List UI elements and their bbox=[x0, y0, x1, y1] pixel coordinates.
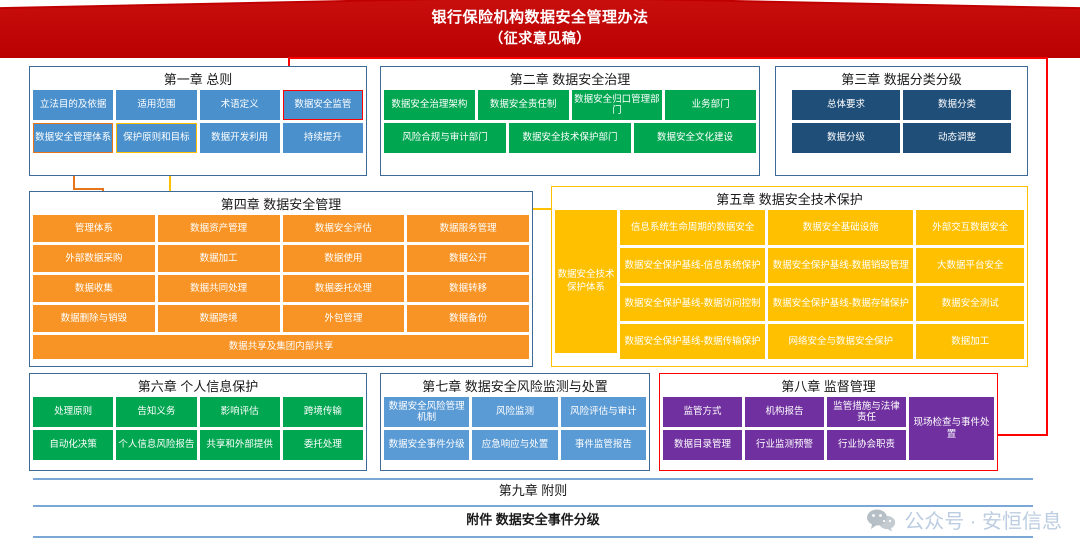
chapter-title: 第二章 数据安全治理 bbox=[384, 70, 756, 90]
node-ch1-5[interactable]: 保护原则和目标 bbox=[116, 123, 196, 153]
node-ch4-11[interactable]: 数据转移 bbox=[407, 275, 529, 302]
node-ch5-0[interactable]: 信息系统生命周期的数据安全 bbox=[620, 210, 765, 245]
diagram-page: 银行保险机构数据安全管理办法 （征求意见稿） 第一章 总则 立法目的及依据 适用… bbox=[0, 0, 1080, 544]
node-ch7-0[interactable]: 数据安全风险管理机制 bbox=[384, 397, 469, 427]
appendix-row: 附件 数据安全事件分级 bbox=[33, 508, 1033, 532]
node-ch6-5[interactable]: 个人信息风险报告 bbox=[116, 430, 196, 460]
node-ch4-12[interactable]: 数据删除与销毁 bbox=[33, 305, 155, 332]
banner-title-line1: 银行保险机构数据安全管理办法 bbox=[0, 8, 1080, 28]
node-ch8-4[interactable]: 行业监测预警 bbox=[745, 430, 824, 460]
node-ch7-1[interactable]: 风险监测 bbox=[472, 397, 557, 427]
banner-title-line2: （征求意见稿） bbox=[0, 28, 1080, 48]
divider-middle bbox=[33, 505, 1033, 507]
node-ch8-0[interactable]: 监管方式 bbox=[663, 397, 742, 427]
node-ch3-0[interactable]: 总体要求 bbox=[792, 90, 900, 120]
node-ch6-4[interactable]: 自动化决策 bbox=[33, 430, 113, 460]
chapter-panel-ch6: 第六章 个人信息保护 处理原则 告知义务 影响评估 跨境传输 自动化决策 个人信… bbox=[29, 373, 367, 471]
node-ch4-6[interactable]: 数据使用 bbox=[283, 245, 405, 272]
node-ch5-1[interactable]: 数据安全基础设施 bbox=[768, 210, 913, 245]
node-ch5-9[interactable]: 数据安全保护基线-数据传输保护 bbox=[620, 324, 765, 359]
node-ch2-5[interactable]: 数据安全技术保护部门 bbox=[509, 123, 631, 153]
chapter9-row: 第九章 附则 bbox=[33, 479, 1033, 503]
node-ch3-1[interactable]: 数据分类 bbox=[903, 90, 1011, 120]
node-ch2-6[interactable]: 数据安全文化建设 bbox=[634, 123, 756, 153]
chapter-panel-ch2: 第二章 数据安全治理 数据安全治理架构 数据安全责任制 数据安全归口管理部门 业… bbox=[380, 66, 760, 176]
chapter-title: 第七章 数据安全风险监测与处置 bbox=[384, 377, 646, 397]
node-ch4-4[interactable]: 外部数据采购 bbox=[33, 245, 155, 272]
chapter-panel-ch5: 第五章 数据安全技术保护 数据安全技术保护体系 信息系统生命周期的数据安全 数据… bbox=[551, 186, 1028, 367]
node-ch6-2[interactable]: 影响评估 bbox=[200, 397, 280, 427]
divider-bottom bbox=[33, 536, 1033, 538]
chapter-panel-ch8: 第八章 监督管理 监管方式 机构报告 监管措施与法律责任 数据目录管理 行业监测… bbox=[659, 373, 998, 471]
chapter-title: 第八章 监督管理 bbox=[663, 377, 994, 397]
node-ch6-6[interactable]: 共享和外部提供 bbox=[200, 430, 280, 460]
node-ch5-7[interactable]: 数据安全保护基线-数据存储保护 bbox=[768, 286, 913, 321]
node-ch5-4[interactable]: 数据安全保护基线-数据销毁管理 bbox=[768, 248, 913, 283]
node-ch8-2[interactable]: 监管措施与法律责任 bbox=[827, 397, 906, 427]
banner-title: 银行保险机构数据安全管理办法 （征求意见稿） bbox=[0, 8, 1080, 48]
chapter-panel-ch4: 第四章 数据安全管理 管理体系 数据资产管理 数据安全评估 数据服务管理 外部数… bbox=[29, 191, 533, 367]
node-ch5-spine[interactable]: 数据安全技术保护体系 bbox=[555, 210, 617, 353]
node-ch4-10[interactable]: 数据委托处理 bbox=[283, 275, 405, 302]
node-ch6-7[interactable]: 委托处理 bbox=[283, 430, 363, 460]
node-ch5-6[interactable]: 数据安全保护基线-数据访问控制 bbox=[620, 286, 765, 321]
node-ch5-5[interactable]: 大数据平台安全 bbox=[916, 248, 1024, 283]
node-ch1-0[interactable]: 立法目的及依据 bbox=[33, 90, 113, 120]
node-ch4-2[interactable]: 数据安全评估 bbox=[283, 215, 405, 242]
node-ch7-2[interactable]: 风险评估与审计 bbox=[561, 397, 646, 427]
node-ch1-6[interactable]: 数据开发利用 bbox=[200, 123, 280, 153]
node-ch4-15[interactable]: 数据备份 bbox=[407, 305, 529, 332]
chapter-panel-ch1: 第一章 总则 立法目的及依据 适用范围 术语定义 数据安全监管 数据安全管理体系… bbox=[29, 66, 367, 176]
node-ch6-0[interactable]: 处理原则 bbox=[33, 397, 113, 427]
node-ch5-2[interactable]: 外部交互数据安全 bbox=[916, 210, 1024, 245]
chapter-panel-ch3: 第三章 数据分类分级 总体要求 数据分类 数据分级 动态调整 bbox=[775, 66, 1028, 176]
chapter-title: 第三章 数据分类分级 bbox=[779, 70, 1024, 90]
node-ch4-8[interactable]: 数据收集 bbox=[33, 275, 155, 302]
node-ch7-3[interactable]: 数据安全事件分级 bbox=[384, 430, 469, 460]
chapter-title: 第四章 数据安全管理 bbox=[33, 195, 529, 215]
node-ch2-4[interactable]: 风险合规与审计部门 bbox=[384, 123, 506, 153]
chapter-title: 第六章 个人信息保护 bbox=[33, 377, 363, 397]
node-ch3-2[interactable]: 数据分级 bbox=[792, 123, 900, 153]
node-ch1-7[interactable]: 持续提升 bbox=[283, 123, 363, 153]
node-ch2-3[interactable]: 业务部门 bbox=[665, 90, 756, 120]
node-ch8-5[interactable]: 行业协会职责 bbox=[827, 430, 906, 460]
node-ch5-8[interactable]: 数据安全测试 bbox=[916, 286, 1024, 321]
node-ch5-3[interactable]: 数据安全保护基线-信息系统保护 bbox=[620, 248, 765, 283]
node-ch8-3[interactable]: 数据目录管理 bbox=[663, 430, 742, 460]
node-ch1-4[interactable]: 数据安全管理体系 bbox=[33, 123, 113, 153]
node-ch4-13[interactable]: 数据跨境 bbox=[158, 305, 280, 332]
node-ch4-1[interactable]: 数据资产管理 bbox=[158, 215, 280, 242]
node-ch4-shared-full[interactable]: 数据共享及集团内部共享 bbox=[33, 335, 529, 359]
node-ch4-0[interactable]: 管理体系 bbox=[33, 215, 155, 242]
node-ch5-11[interactable]: 数据加工 bbox=[916, 324, 1024, 359]
node-ch8-onsite-inspection[interactable]: 现场检查与事件处置 bbox=[909, 397, 994, 460]
node-ch2-1[interactable]: 数据安全责任制 bbox=[478, 90, 569, 120]
chapter-panel-ch7: 第七章 数据安全风险监测与处置 数据安全风险管理机制 风险监测 风险评估与审计 … bbox=[380, 373, 650, 471]
node-ch7-4[interactable]: 应急响应与处置 bbox=[472, 430, 557, 460]
node-ch1-3[interactable]: 数据安全监管 bbox=[283, 90, 363, 120]
node-ch4-7[interactable]: 数据公开 bbox=[407, 245, 529, 272]
node-ch6-3[interactable]: 跨境传输 bbox=[283, 397, 363, 427]
node-ch5-10[interactable]: 网络安全与数据安全保护 bbox=[768, 324, 913, 359]
node-ch8-1[interactable]: 机构报告 bbox=[745, 397, 824, 427]
chapter-title: 第一章 总则 bbox=[33, 70, 363, 90]
node-ch4-3[interactable]: 数据服务管理 bbox=[407, 215, 529, 242]
node-ch6-1[interactable]: 告知义务 bbox=[116, 397, 196, 427]
node-ch1-1[interactable]: 适用范围 bbox=[116, 90, 196, 120]
node-ch4-9[interactable]: 数据共同处理 bbox=[158, 275, 280, 302]
node-ch2-2[interactable]: 数据安全归口管理部门 bbox=[572, 90, 663, 120]
title-banner: 银行保险机构数据安全管理办法 （征求意见稿） bbox=[0, 0, 1080, 58]
node-ch7-5[interactable]: 事件监管报告 bbox=[561, 430, 646, 460]
node-ch1-2[interactable]: 术语定义 bbox=[200, 90, 280, 120]
node-ch3-3[interactable]: 动态调整 bbox=[903, 123, 1011, 153]
chapter-title: 第五章 数据安全技术保护 bbox=[555, 190, 1024, 210]
node-ch4-5[interactable]: 数据加工 bbox=[158, 245, 280, 272]
node-ch2-0[interactable]: 数据安全治理架构 bbox=[384, 90, 475, 120]
node-ch4-14[interactable]: 外包管理 bbox=[283, 305, 405, 332]
